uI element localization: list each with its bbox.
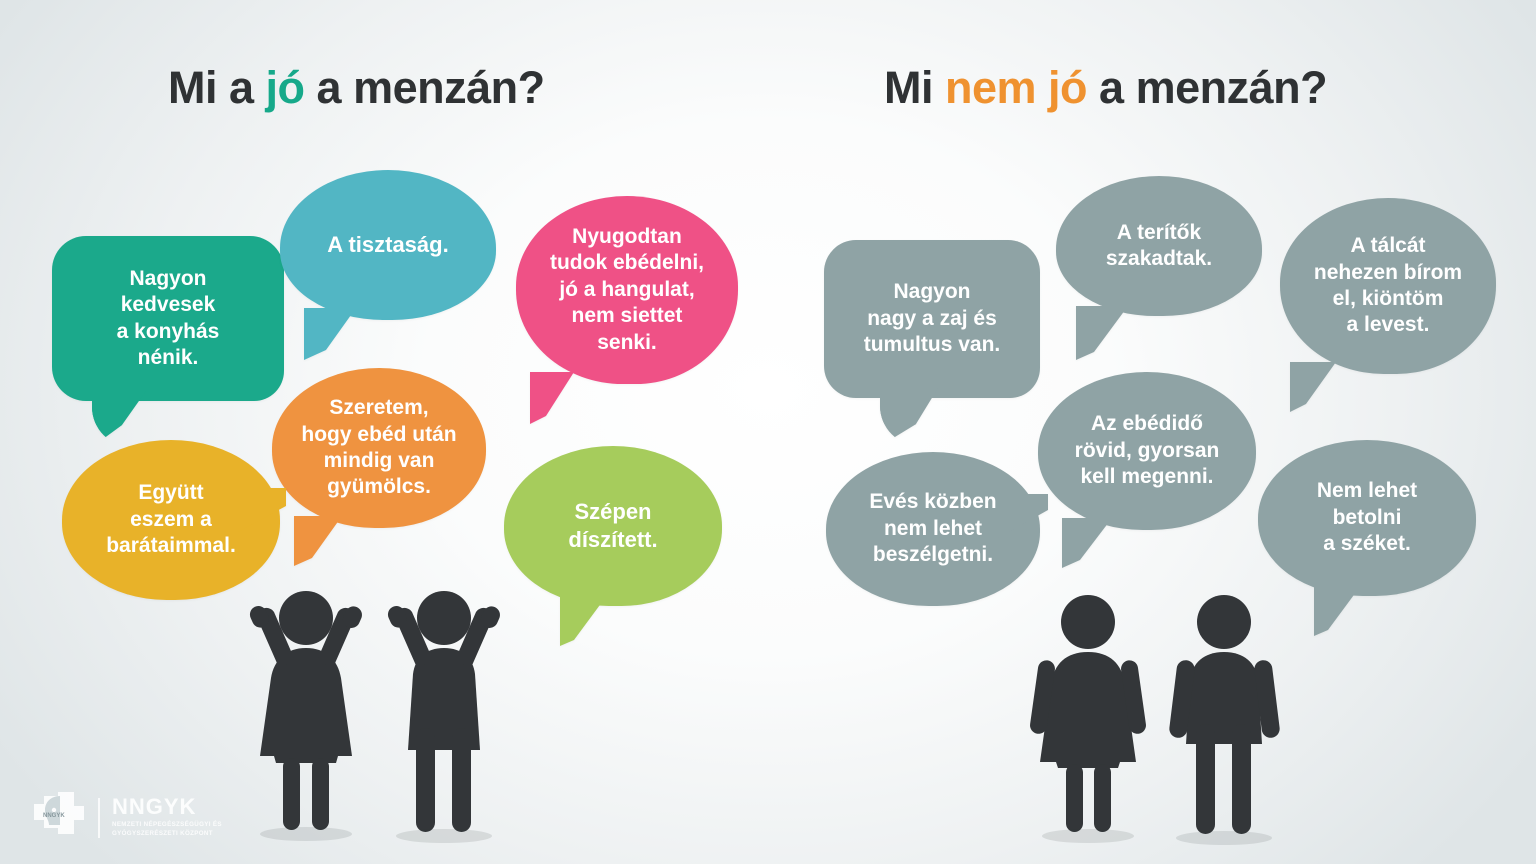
speech-bubble-short-lunch-break: Az ebédidő rövid, gyorsan kell megenni. [1038, 372, 1256, 530]
title-right-highlight: nem jó [945, 62, 1087, 113]
logo-divider [98, 798, 100, 838]
nngyk-logo: NNGYK NNGYK NEMZETI NÉPEGÉSZSÉGÜGYI ÉS G… [30, 790, 232, 845]
speech-bubble-fruit-after-lunch: Szeretem, hogy ebéd után mindig van gyüm… [272, 368, 486, 528]
bubble-text: Nagyon nagy a zaj és tumultus van. [864, 279, 1001, 358]
bubble-tail [92, 391, 146, 447]
title-right-post: a menzán? [1087, 62, 1327, 113]
bubble-text: A tisztaság. [327, 231, 448, 259]
speech-bubble-eating-with-friends: Együtt eszem a barátaimmal. [62, 440, 280, 600]
bubble-text: Szépen díszített. [568, 498, 657, 553]
bubble-text: Nem lehet betolni a széket. [1317, 478, 1417, 557]
bubble-text: Az ebédidő rövid, gyorsan kell megenni. [1075, 411, 1220, 490]
bubble-tail [880, 388, 938, 446]
logo-subtitle: NEMZETI NÉPEGÉSZSÉGÜGYI ÉS GYÓGYSZERÉSZE… [112, 821, 232, 839]
infographic-canvas: Mi a jó a menzán? Mi nem jó a menzán? Na… [0, 0, 1536, 864]
speech-bubble-heavy-tray: A tálcát nehezen bírom el, kiöntöm a lev… [1280, 198, 1496, 374]
page-title-negative: Mi nem jó a menzán? [884, 62, 1327, 114]
bubble-tail [1062, 518, 1112, 568]
title-left-pre: Mi a [168, 62, 266, 113]
logo-mark-text: NNGYK [43, 813, 65, 819]
bubble-tail [998, 494, 1048, 538]
nngyk-cross-head-icon: NNGYK [30, 790, 86, 845]
figures-neutral-children-icon [1018, 584, 1308, 854]
bubble-text: Evés közben nem lehet beszélgetni. [869, 489, 996, 568]
bubble-text: Együtt eszem a barátaimmal. [106, 480, 236, 559]
bubble-tail [238, 488, 286, 532]
bubble-tail [560, 594, 608, 646]
bubble-text: A tálcát nehezen bírom el, kiöntöm a lev… [1314, 233, 1462, 339]
title-left-highlight: jó [266, 62, 305, 113]
page-title-positive: Mi a jó a menzán? [168, 62, 545, 114]
bubble-tail [1314, 584, 1362, 636]
title-right-pre: Mi [884, 62, 945, 113]
logo-brand: NNGYK [112, 796, 232, 818]
speech-bubble-no-talking: Evés közben nem lehet beszélgetni. [826, 452, 1040, 606]
speech-bubble-calm-lunch: Nyugodtan tudok ebédelni, jó a hangulat,… [516, 196, 738, 384]
speech-bubble-kind-kitchen-staff: Nagyon kedvesek a konyhás nénik. [52, 236, 284, 401]
bubble-tail [530, 372, 574, 424]
bubble-text: Nagyon kedvesek a konyhás nénik. [117, 266, 220, 372]
bubble-text: Szeretem, hogy ebéd után mindig van gyüm… [301, 395, 456, 501]
speech-bubble-chair-cannot-be-pushed-in: Nem lehet betolni a széket. [1258, 440, 1476, 596]
speech-bubble-nicely-decorated: Szépen díszített. [504, 446, 722, 606]
bubble-tail [294, 516, 342, 566]
bubble-tail [1290, 362, 1336, 412]
title-left-post: a menzán? [305, 62, 545, 113]
speech-bubble-torn-tablecloths: A terítők szakadtak. [1056, 176, 1262, 316]
figures-happy-children-icon [236, 578, 536, 853]
bubble-text: A terítők szakadtak. [1106, 220, 1212, 273]
speech-bubble-too-noisy: Nagyon nagy a zaj és tumultus van. [824, 240, 1040, 398]
bubble-tail [304, 308, 356, 360]
speech-bubble-cleanliness: A tisztaság. [280, 170, 496, 320]
bubble-tail [1076, 306, 1128, 360]
bubble-text: Nyugodtan tudok ebédelni, jó a hangulat,… [550, 224, 704, 356]
